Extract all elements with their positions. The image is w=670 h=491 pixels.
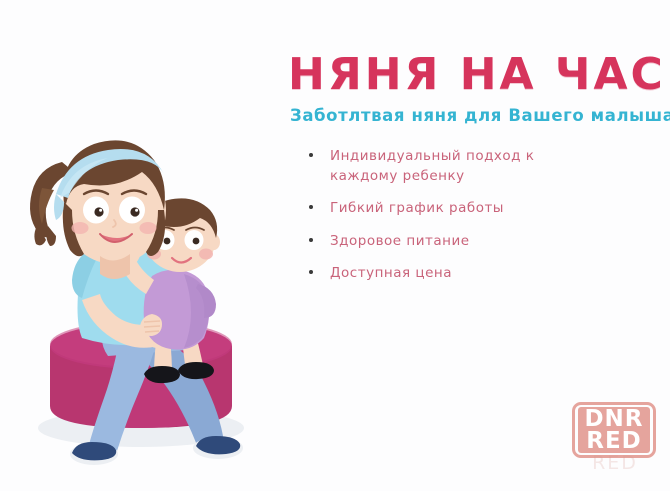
list-item: Доступная цена — [330, 264, 560, 284]
watermark-letters: DNR RED — [578, 407, 650, 453]
watermark-logo: DNR RED RED — [572, 402, 656, 458]
bullet-dot-icon — [309, 238, 313, 242]
list-item: Индивидуальный подход к каждому ребенку — [330, 147, 560, 186]
list-item-label: Доступная цена — [330, 265, 452, 281]
list-item: Гибкий график работы — [330, 199, 560, 219]
bullet-dot-icon — [309, 270, 313, 274]
list-item-label: Гибкий график работы — [330, 200, 504, 216]
list-item: Здоровое питание — [330, 232, 560, 252]
watermark-line-2: RED — [586, 430, 642, 452]
poster-canvas: НЯНЯ НА ЧАС Заботлтвая няня для Вашего м… — [0, 0, 670, 491]
features-list: Индивидуальный подход к каждому ребенку … — [286, 147, 658, 284]
text-column: НЯНЯ НА ЧАС Заботлтвая няня для Вашего м… — [286, 52, 658, 297]
page-title: НЯНЯ НА ЧАС — [288, 52, 658, 98]
list-item-label: Индивидуальный подход к каждому ребенку — [330, 148, 534, 184]
watermark-subtext: RED — [556, 452, 670, 474]
bullet-dot-icon — [309, 205, 313, 209]
bullet-dot-icon — [309, 153, 313, 157]
nanny-holding-baby-illustration — [8, 98, 278, 483]
list-item-label: Здоровое питание — [330, 233, 470, 249]
watermark-line-1: DNR — [584, 408, 643, 430]
page-subtitle: Заботлтвая няня для Вашего малыша — [290, 106, 658, 125]
